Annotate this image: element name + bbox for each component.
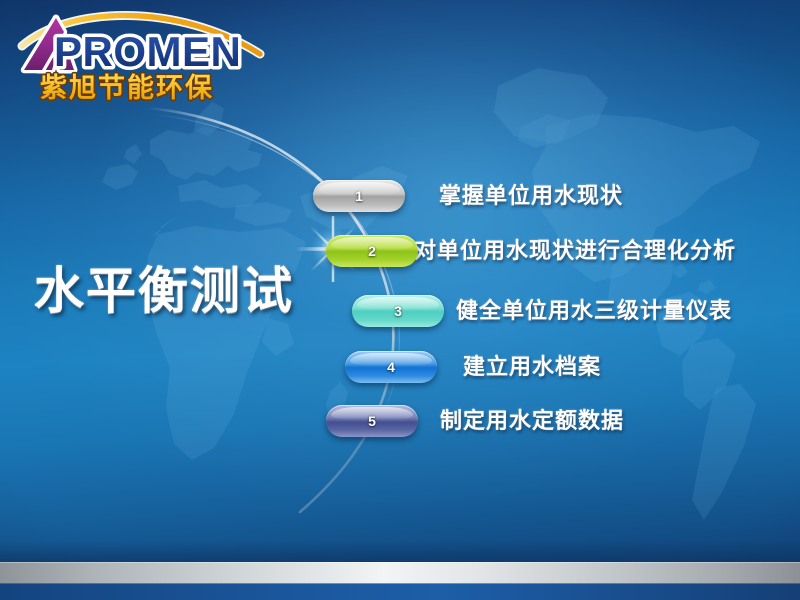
step-pill-5[interactable]: 5	[326, 405, 418, 437]
step-label-4: 建立用水档案	[463, 356, 601, 378]
step-pill-4[interactable]: 4	[345, 351, 437, 383]
list-item-3[interactable]: 3 健全单位用水三级计量仪表	[352, 295, 732, 327]
step-number-1: 1	[355, 188, 363, 204]
footer-silver-bar	[0, 562, 800, 584]
slide-title: 水平衡测试	[34, 266, 294, 316]
list-item-4[interactable]: 4 建立用水档案	[345, 351, 601, 383]
footer-shadow	[0, 540, 800, 562]
step-number-2: 2	[368, 243, 376, 259]
footer-navy-bar	[0, 584, 800, 600]
step-label-1: 掌握单位用水现状	[439, 185, 623, 207]
step-number-3: 3	[394, 303, 402, 319]
step-label-5: 制定用水定额数据	[440, 410, 624, 432]
brand-logo: PROMEN PROMEN 紫旭节能环保 紫旭节能环保	[8, 2, 278, 104]
step-pill-3[interactable]: 3	[352, 295, 444, 327]
svg-text:PROMEN: PROMEN	[54, 28, 241, 75]
slide-canvas: PROMEN PROMEN 紫旭节能环保 紫旭节能环保	[0, 0, 800, 600]
step-pill-2[interactable]: 2	[326, 235, 418, 267]
list-item-5[interactable]: 5 制定用水定额数据	[326, 405, 624, 437]
list-item-2[interactable]: 2 对单位用水现状进行合理化分析	[326, 235, 736, 267]
step-number-5: 5	[368, 413, 376, 429]
step-label-2: 对单位用水现状进行合理化分析	[414, 240, 736, 262]
step-label-3: 健全单位用水三级计量仪表	[456, 300, 732, 322]
brand-chinese-name: 紫旭节能环保	[40, 72, 214, 103]
step-pill-1[interactable]: 1	[313, 180, 405, 212]
step-number-4: 4	[387, 359, 395, 375]
list-item-1[interactable]: 1 掌握单位用水现状	[313, 180, 623, 212]
